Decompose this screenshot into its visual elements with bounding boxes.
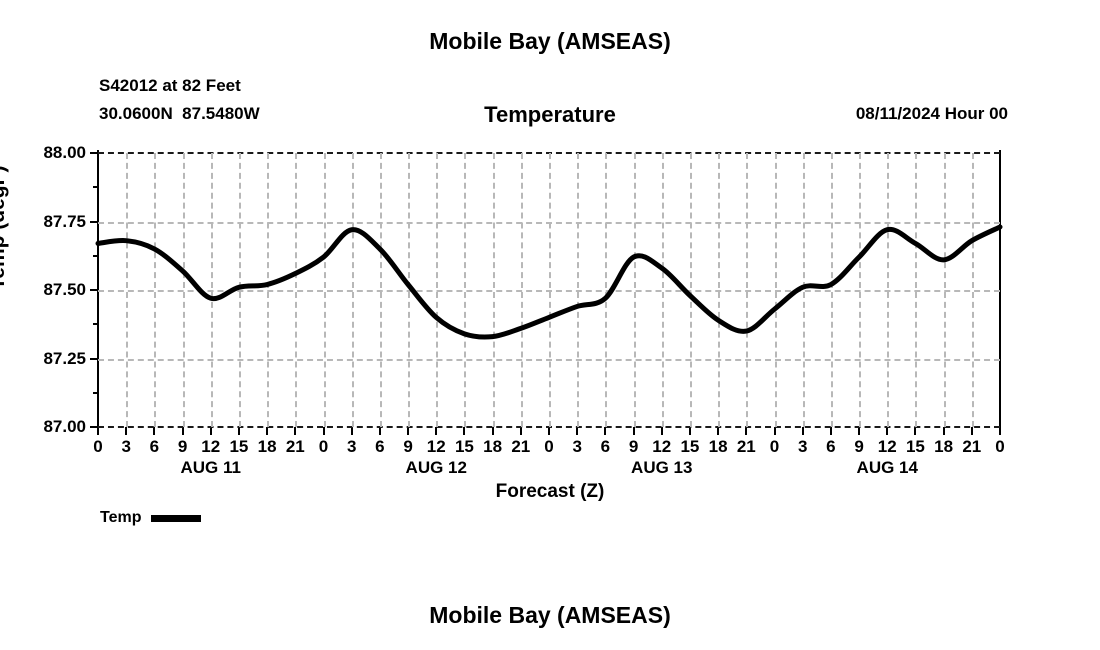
- x-tick-label: 18: [709, 437, 728, 457]
- x-tick-mark: [689, 427, 691, 435]
- series-path-temp: [98, 227, 1000, 337]
- x-axis-day-label: AUG 12: [406, 458, 467, 478]
- y-tick-label: 87.25: [43, 349, 86, 369]
- x-tick-label: 12: [652, 437, 671, 457]
- x-tick-mark: [633, 427, 635, 435]
- x-tick-label: 15: [455, 437, 474, 457]
- x-tick-label: 3: [347, 437, 356, 457]
- x-tick-label: 0: [319, 437, 328, 457]
- x-tick-mark: [153, 427, 155, 435]
- x-tick-label: 21: [511, 437, 530, 457]
- x-tick-label: 6: [150, 437, 159, 457]
- x-tick-mark: [914, 427, 916, 435]
- x-tick-label: 0: [544, 437, 553, 457]
- x-axis-day-label: AUG 13: [631, 458, 692, 478]
- x-axis-day-label: AUG 11: [181, 458, 241, 478]
- x-tick-label: 3: [572, 437, 581, 457]
- x-tick-label: 6: [601, 437, 610, 457]
- temperature-series-line: [98, 153, 1000, 427]
- x-tick-label: 15: [906, 437, 925, 457]
- x-tick-mark: [576, 427, 578, 435]
- x-axis-title: Forecast (Z): [0, 481, 1100, 503]
- y-tick-label: 88.00: [43, 143, 86, 163]
- x-tick-label: 6: [826, 437, 835, 457]
- x-tick-label: 12: [201, 437, 220, 457]
- x-tick-label: 21: [962, 437, 981, 457]
- x-tick-mark: [858, 427, 860, 435]
- run-time-label: 08/11/2024 Hour 00: [856, 104, 1008, 124]
- x-tick-mark: [802, 427, 804, 435]
- x-tick-mark: [323, 427, 325, 435]
- x-tick-mark: [971, 427, 973, 435]
- x-tick-label: 9: [403, 437, 412, 457]
- y-tick-label: 87.00: [43, 417, 86, 437]
- x-tick-mark: [266, 427, 268, 435]
- x-tick-label: 6: [375, 437, 384, 457]
- page-title-bottom: Mobile Bay (AMSEAS): [0, 602, 1100, 629]
- x-tick-mark: [294, 427, 296, 435]
- x-tick-mark: [379, 427, 381, 435]
- page-title-top: Mobile Bay (AMSEAS): [0, 28, 1100, 55]
- x-tick-mark: [210, 427, 212, 435]
- x-tick-label: 15: [680, 437, 699, 457]
- x-tick-label: 9: [178, 437, 187, 457]
- x-tick-mark: [238, 427, 240, 435]
- x-tick-mark: [604, 427, 606, 435]
- x-tick-mark: [435, 427, 437, 435]
- x-tick-mark: [407, 427, 409, 435]
- x-tick-label: 18: [934, 437, 953, 457]
- legend-swatch-temp: [151, 515, 201, 522]
- x-tick-mark: [661, 427, 663, 435]
- x-tick-mark: [774, 427, 776, 435]
- x-tick-label: 0: [770, 437, 779, 457]
- x-tick-label: 12: [878, 437, 897, 457]
- x-tick-label: 21: [737, 437, 756, 457]
- y-axis-title: Temp (degF): [0, 166, 10, 290]
- x-tick-mark: [717, 427, 719, 435]
- x-tick-label: 3: [798, 437, 807, 457]
- x-tick-mark: [125, 427, 127, 435]
- x-tick-mark: [182, 427, 184, 435]
- x-tick-mark: [463, 427, 465, 435]
- plot-area: [98, 153, 1000, 427]
- x-tick-mark: [520, 427, 522, 435]
- x-tick-label: 3: [121, 437, 130, 457]
- x-tick-mark: [548, 427, 550, 435]
- x-tick-mark: [745, 427, 747, 435]
- legend-label-temp: Temp: [100, 509, 141, 527]
- x-tick-label: 21: [286, 437, 305, 457]
- x-tick-label: 0: [93, 437, 102, 457]
- y-tick-label: 87.75: [43, 212, 86, 232]
- x-tick-mark: [492, 427, 494, 435]
- x-tick-mark: [351, 427, 353, 435]
- x-axis-day-label: AUG 14: [857, 458, 918, 478]
- x-tick-label: 9: [854, 437, 863, 457]
- x-tick-label: 18: [258, 437, 277, 457]
- legend: Temp: [100, 509, 201, 527]
- x-tick-label: 18: [483, 437, 502, 457]
- y-tick-label: 87.50: [43, 280, 86, 300]
- station-label: S42012 at 82 Feet: [99, 76, 241, 96]
- x-tick-mark: [886, 427, 888, 435]
- x-tick-label: 0: [995, 437, 1004, 457]
- x-tick-mark: [830, 427, 832, 435]
- x-tick-label: 9: [629, 437, 638, 457]
- x-tick-label: 15: [229, 437, 248, 457]
- x-tick-mark: [943, 427, 945, 435]
- x-tick-label: 12: [427, 437, 446, 457]
